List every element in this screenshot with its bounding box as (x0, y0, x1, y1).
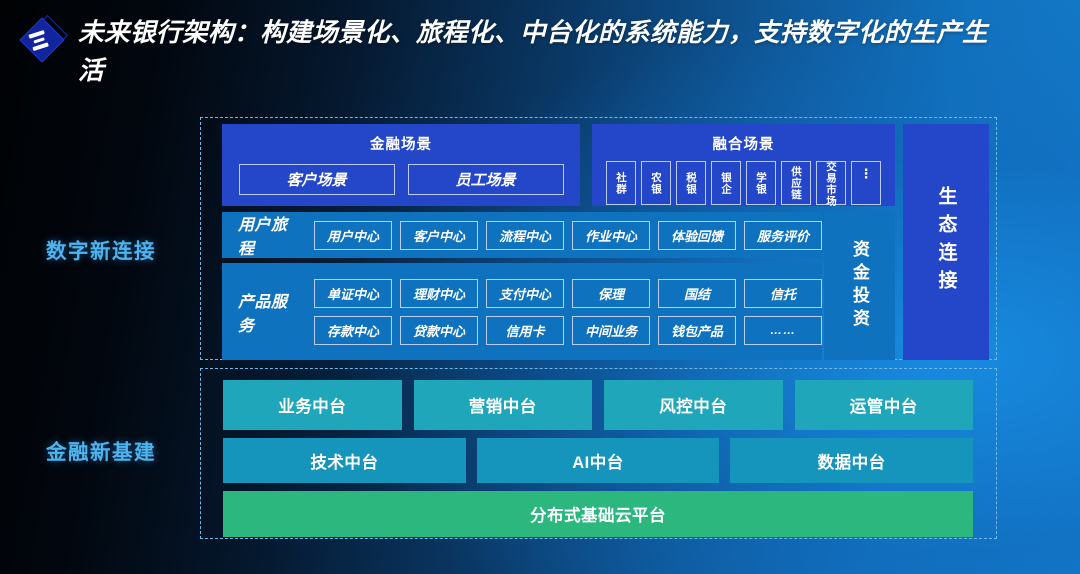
product-item-document-center[interactable]: 单证中心 (314, 279, 392, 308)
platform-operations-middle[interactable]: 运管中台 (795, 380, 974, 430)
user-journey-label: 用户旅程 (238, 211, 300, 259)
product-services-band: 产品服务 单证中心 理财中心 支付中心 保理 国结 信托 存款中心 贷款中心 信… (222, 263, 822, 360)
journey-item-operation-center[interactable]: 作业中心 (572, 221, 650, 250)
product-row-1: 单证中心 理财中心 支付中心 保理 国结 信托 (314, 279, 822, 308)
diamond-logo-icon (22, 20, 64, 62)
product-item-trust[interactable]: 信托 (744, 279, 822, 308)
fusion-item-more[interactable]: ⋮ (851, 161, 881, 205)
page-header: 未来银行架构：构建场景化、旅程化、中台化的系统能力，支持数字化的生产生活 (0, 0, 1080, 104)
product-item-wealth-center[interactable]: 理财中心 (400, 279, 478, 308)
fusion-item-supply-chain[interactable]: 供应链 (781, 161, 811, 205)
product-item-credit-card[interactable]: 信用卡 (486, 316, 564, 345)
product-item-loan-center[interactable]: 贷款中心 (400, 316, 478, 345)
fusion-item-trade-market[interactable]: 交易市场 (816, 161, 846, 205)
fusion-item-bank-ent[interactable]: 银企 (711, 161, 741, 205)
product-item-more[interactable]: …… (744, 316, 822, 345)
product-item-payment-center[interactable]: 支付中心 (486, 279, 564, 308)
fusion-item-agri-bank[interactable]: 农银 (641, 161, 671, 205)
fusion-item-edu-bank[interactable]: 学银 (746, 161, 776, 205)
capital-investment-column[interactable]: 资金投资 (824, 212, 895, 360)
journey-item-user-center[interactable]: 用户中心 (314, 221, 392, 250)
journey-item-experience-feedback[interactable]: 体验回馈 (658, 221, 736, 250)
capital-investment-label: 资金投资 (847, 240, 872, 332)
journey-item-service-rating[interactable]: 服务评价 (744, 221, 822, 250)
financial-scenarios-panel: 金融场景 客户场景 员工场景 (222, 124, 580, 206)
platform-technology-middle[interactable]: 技术中台 (223, 438, 466, 483)
user-journey-band: 用户旅程 用户中心 客户中心 流程中心 作业中心 体验回馈 服务评价 (222, 212, 822, 258)
product-item-deposit-center[interactable]: 存款中心 (314, 316, 392, 345)
platform-ai-middle[interactable]: AI中台 (477, 438, 720, 483)
platform-row-technical: 技术中台 AI中台 数据中台 (223, 438, 973, 483)
fusion-scenarios-panel: 融合场景 社群 农银 税银 银企 学银 供应链 交易市场 ⋮ (592, 124, 895, 206)
platform-risk-middle[interactable]: 风控中台 (604, 380, 783, 430)
product-item-intl-settlement[interactable]: 国结 (658, 279, 736, 308)
fusion-item-tax-bank[interactable]: 税银 (676, 161, 706, 205)
product-item-factoring[interactable]: 保理 (572, 279, 650, 308)
product-item-intermediary[interactable]: 中间业务 (572, 316, 650, 345)
scenario-item-employee[interactable]: 员工场景 (408, 164, 564, 195)
platform-row-business: 业务中台 营销中台 风控中台 运管中台 (223, 380, 973, 430)
scenario-item-customer[interactable]: 客户场景 (239, 164, 395, 195)
financial-scenarios-title: 金融场景 (370, 133, 432, 154)
platform-marketing-middle[interactable]: 营销中台 (414, 380, 593, 430)
platform-data-middle[interactable]: 数据中台 (730, 438, 973, 483)
page-title: 未来银行架构：构建场景化、旅程化、中台化的系统能力，支持数字化的生产生活 (78, 14, 1008, 90)
product-services-label: 产品服务 (238, 288, 300, 336)
journey-item-process-center[interactable]: 流程中心 (486, 221, 564, 250)
platform-business-middle[interactable]: 业务中台 (223, 380, 402, 430)
platform-distributed-cloud[interactable]: 分布式基础云平台 (223, 491, 973, 537)
product-row-2: 存款中心 贷款中心 信用卡 中间业务 钱包产品 …… (314, 316, 822, 345)
section-label-digital-connection: 数字新连接 (46, 234, 156, 264)
fusion-scenarios-title: 融合场景 (713, 133, 775, 154)
product-item-wallet[interactable]: 钱包产品 (658, 316, 736, 345)
fusion-item-community[interactable]: 社群 (606, 161, 636, 205)
eco-connection-label: 生态连接 (933, 186, 960, 298)
platform-row-cloud: 分布式基础云平台 (223, 491, 973, 537)
journey-item-customer-center[interactable]: 客户中心 (400, 221, 478, 250)
section-label-financial-infrastructure: 金融新基建 (46, 435, 156, 465)
eco-connection-column[interactable]: 生态连接 (903, 124, 989, 360)
